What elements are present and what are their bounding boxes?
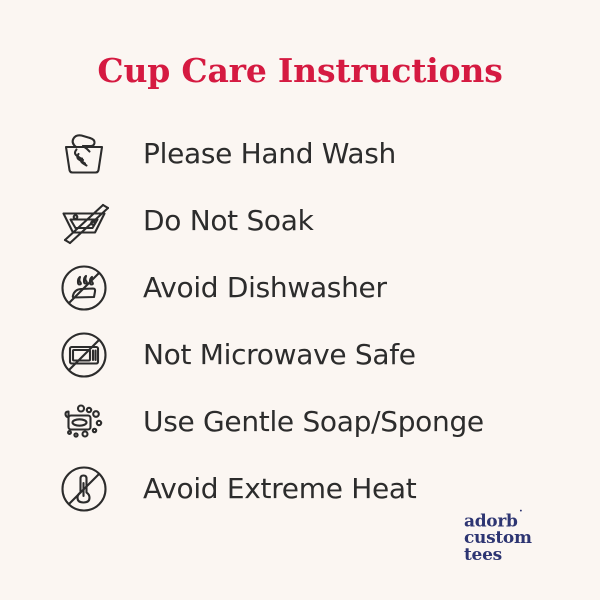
care-item-no-dishwasher: Avoid Dishwasher — [0, 254, 600, 321]
brand-logo-line-1: adorb˙ — [464, 509, 584, 530]
hand-wash-icon — [58, 128, 110, 180]
care-item-soap-sponge: Use Gentle Soap/Sponge — [0, 388, 600, 455]
no-dishwasher-icon — [58, 262, 110, 314]
care-item-hand-wash: Please Hand Wash — [0, 120, 600, 187]
brand-logo-line-3: tees — [464, 547, 584, 564]
care-item-no-soak: Do Not Soak — [0, 187, 600, 254]
no-soak-icon — [58, 195, 110, 247]
no-heat-icon — [58, 463, 110, 515]
care-item-label: Avoid Dishwasher — [143, 274, 387, 302]
no-microwave-icon — [58, 329, 110, 381]
care-item-label: Use Gentle Soap/Sponge — [143, 408, 484, 436]
care-instructions-list: Please Hand Wash Do Not Soak — [0, 120, 600, 522]
care-item-label: Do Not Soak — [143, 207, 314, 235]
care-item-label: Please Hand Wash — [143, 140, 396, 168]
care-item-no-microwave: Not Microwave Safe — [0, 321, 600, 388]
care-item-label: Avoid Extreme Heat — [143, 475, 416, 503]
care-instructions-card: Cup Care Instructions Please Hand Wash — [0, 0, 600, 600]
brand-logo-mark: ˙ — [518, 509, 525, 524]
soap-sponge-icon — [58, 396, 110, 448]
care-item-label: Not Microwave Safe — [143, 341, 416, 369]
brand-logo: adorb˙ custom tees — [464, 509, 584, 563]
page-title: Cup Care Instructions — [0, 51, 600, 90]
